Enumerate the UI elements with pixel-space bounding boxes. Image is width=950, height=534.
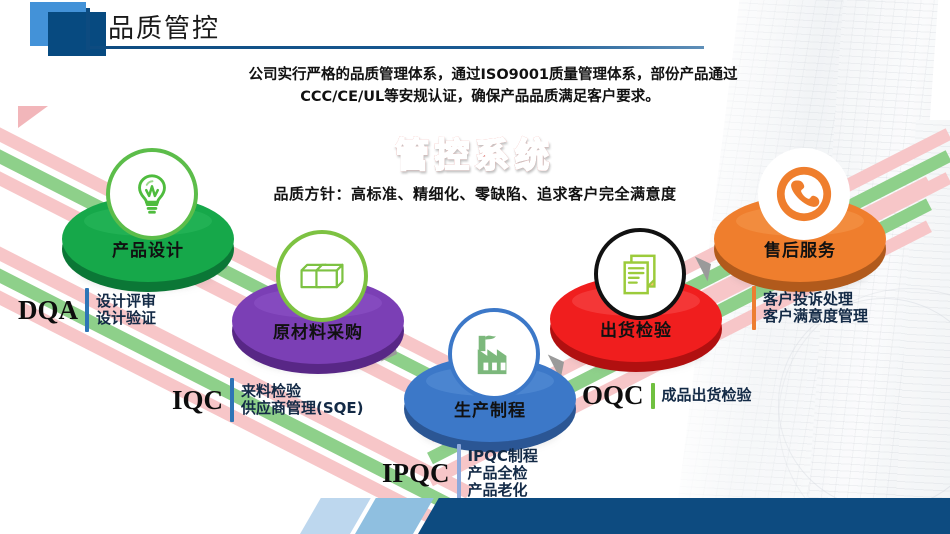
footer-shape-navy [660, 498, 950, 534]
label-ipqc: IPQC IPQC制程 产品全检 产品老化 [382, 444, 538, 502]
product-design-badge [106, 148, 198, 240]
oqc-code: OQC [582, 380, 644, 411]
boxes-icon [296, 255, 348, 297]
production-process-badge [448, 308, 540, 400]
iqc-line-2: 供应商管理(SQE) [241, 400, 364, 417]
iqc-line-1: 来料检验 [241, 383, 364, 400]
node-product-design[interactable]: 产品设计 [62, 196, 234, 292]
after-sales-notes-text: 客户投诉处理 客户满意度管理 [763, 291, 868, 325]
slide-root: 品质管控 公司实行严格的品质管理体系，通过ISO9001质量管理体系，部份产品通… [0, 0, 950, 534]
raw-material-badge [276, 230, 368, 322]
dqa-line-1: 设计评审 [96, 293, 156, 310]
dqa-line-2: 设计验证 [96, 310, 156, 327]
ipqc-text: IPQC制程 产品全检 产品老化 [468, 448, 538, 499]
footer-bar [0, 498, 950, 534]
after-sales-bar [752, 286, 756, 330]
label-dqa: DQA 设计评审 设计验证 [18, 288, 156, 332]
ipqc-code: IPQC [382, 458, 450, 489]
lightbulb-icon [129, 171, 175, 217]
iqc-text: 来料检验 供应商管理(SQE) [241, 383, 364, 417]
document-icon [618, 251, 662, 297]
dqa-bar [85, 288, 89, 332]
ipqc-bar [457, 444, 461, 502]
ipqc-line-1: IPQC制程 [468, 448, 538, 465]
label-after-sales-notes: 客户投诉处理 客户满意度管理 [752, 286, 868, 330]
node-after-sales-service[interactable]: 售后服务 [714, 196, 886, 292]
oqc-text: 成品出货检验 [662, 387, 752, 404]
node-shipment-inspection[interactable]: 出货检验 [550, 276, 722, 372]
ipqc-line-2: 产品全检 [468, 465, 538, 482]
after-sales-line-2: 客户满意度管理 [763, 308, 868, 325]
phone-icon [773, 163, 835, 225]
shipment-inspection-badge [594, 228, 686, 320]
after-sales-line-1: 客户投诉处理 [763, 291, 868, 308]
after-sales-badge [758, 148, 850, 240]
oqc-line-1: 成品出货检验 [662, 387, 752, 404]
dqa-code: DQA [18, 295, 78, 326]
iqc-bar [230, 378, 234, 422]
dqa-text: 设计评审 设计验证 [96, 293, 156, 327]
factory-icon [470, 332, 518, 376]
oqc-bar [651, 383, 655, 409]
iqc-code: IQC [172, 385, 223, 416]
node-raw-material-purchase[interactable]: 原材料采购 [232, 278, 404, 374]
ipqc-line-3: 产品老化 [468, 482, 538, 499]
label-iqc: IQC 来料检验 供应商管理(SQE) [172, 378, 364, 422]
label-oqc: OQC 成品出货检验 [582, 380, 752, 411]
